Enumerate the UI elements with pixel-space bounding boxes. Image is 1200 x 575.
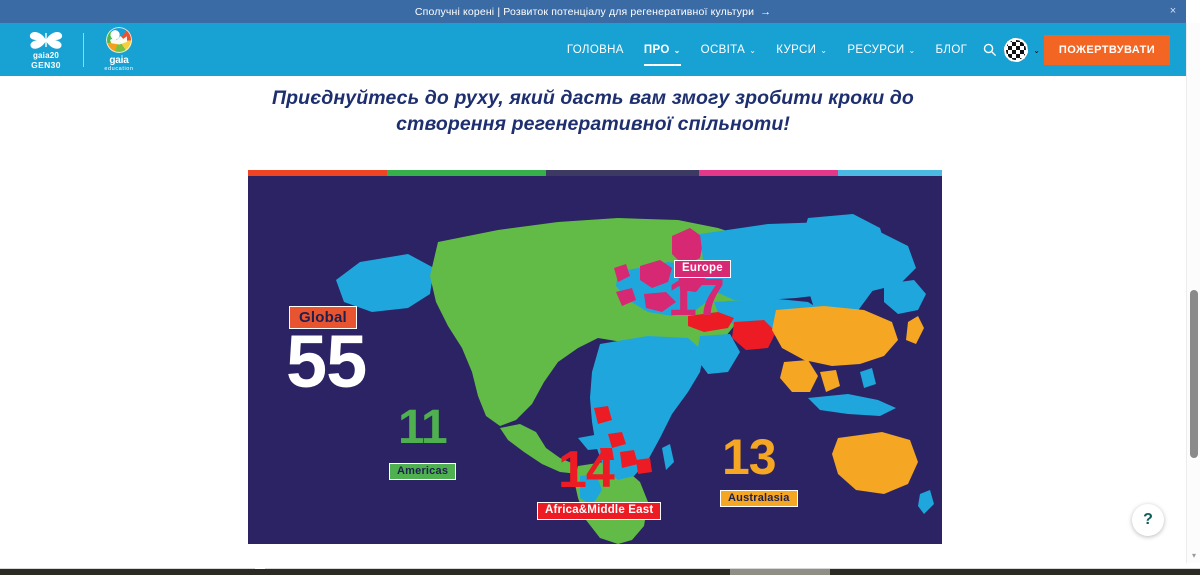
landmass-far-east <box>884 280 926 314</box>
region-value-australasia: 13 <box>722 436 776 479</box>
logo-gaia-line2: education <box>104 66 133 72</box>
region-label-australasia: Australasia <box>720 490 798 507</box>
world-map-infographic: Global 55 Europe 17 11 Americas 14 Afric… <box>248 170 942 544</box>
donate-button[interactable]: ПОЖЕРТВУВАТИ <box>1044 35 1170 65</box>
taskbar-highlight <box>730 569 830 575</box>
search-icon[interactable] <box>983 43 996 56</box>
region-value-africa-middle-east: 14 <box>558 448 614 492</box>
nav-label: БЛОГ <box>936 44 968 56</box>
region-label-americas: Americas <box>389 463 456 480</box>
butterfly-icon <box>29 30 63 50</box>
chevron-down-icon[interactable]: ▾ <box>1190 552 1198 560</box>
arrow-right-icon: → <box>760 6 771 18</box>
chevron-down-icon: ⌄ <box>749 46 756 55</box>
logo-gen30[interactable]: gaia20 GEN30 <box>20 30 72 70</box>
region-value-americas: 11 <box>398 408 447 449</box>
logo-gen30-line2: GEN30 <box>31 60 61 70</box>
region-value-europe: 17 <box>668 276 724 320</box>
landmass-philippines <box>860 368 876 388</box>
nav-item-courses[interactable]: КУРСИ ⌄ <box>766 38 837 62</box>
landmass-new-zealand <box>918 490 934 514</box>
landmass-russia <box>700 222 916 300</box>
logo-gen30-line1: gaia20 <box>33 51 59 60</box>
logo-gaia-line1: gaia <box>109 55 128 66</box>
help-button[interactable]: ? <box>1132 504 1164 536</box>
landmass-madagascar <box>662 444 674 470</box>
announcement-text: Сполучні корені | Розвиток потенціалу дл… <box>415 6 754 18</box>
nav-label: ОСВІТА <box>701 44 746 56</box>
nav-item-resources[interactable]: РЕСУРСИ ⌄ <box>837 38 925 62</box>
chevron-down-icon: ⌄ <box>820 46 827 55</box>
nav-label: ПРО <box>644 44 670 56</box>
chevron-down-icon: ⌄ <box>908 46 915 55</box>
language-globe-icon <box>1004 38 1028 62</box>
nav-item-blog[interactable]: БЛОГ <box>926 38 978 62</box>
scrollbar-thumb[interactable] <box>1190 290 1198 458</box>
close-icon[interactable]: × <box>1166 5 1180 19</box>
nav-item-about[interactable]: ПРО ⌄ <box>634 38 691 62</box>
language-selector[interactable]: ⌄ <box>1004 38 1040 62</box>
page-root: Сполучні корені | Розвиток потенціалу дл… <box>0 0 1200 575</box>
world-map: Global 55 Europe 17 11 Americas 14 Afric… <box>248 176 942 544</box>
nav-item-education[interactable]: ОСВІТА ⌄ <box>691 38 767 62</box>
region-value-global: 55 <box>286 331 366 394</box>
page-content: Приєднуйтесь до руху, який дасть вам змо… <box>0 76 1186 563</box>
chevron-down-icon: ⌄ <box>674 46 681 55</box>
region-label-africa-middle-east: Africa&Middle East <box>537 502 661 520</box>
logo-group[interactable]: gaia20 GEN30 gaia education <box>20 27 143 72</box>
landmass-se-asia <box>820 370 840 392</box>
page-title: Приєднуйтесь до руху, який дасть вам змо… <box>233 86 953 138</box>
site-header: gaia20 GEN30 gaia education ГОЛОВНА ПРО … <box>0 23 1186 76</box>
nav-item-home[interactable]: ГОЛОВНА <box>557 38 634 62</box>
nav-label: ГОЛОВНА <box>567 44 624 56</box>
os-taskbar <box>0 563 1200 575</box>
logo-gaia-education[interactable]: gaia education <box>95 27 143 72</box>
nav-label: РЕСУРСИ <box>847 44 904 56</box>
announcement-banner[interactable]: Сполучні корені | Розвиток потенціалу дл… <box>0 0 1186 23</box>
nav-label: КУРСИ <box>776 44 816 56</box>
logo-divider <box>83 33 84 67</box>
vertical-scrollbar[interactable]: ▾ <box>1186 23 1200 563</box>
landmass-indonesia <box>808 394 896 416</box>
landmass-australia <box>832 432 918 494</box>
chevron-down-icon: ⌄ <box>1033 46 1040 55</box>
globe-circle-icon <box>106 27 132 53</box>
main-navigation: ГОЛОВНА ПРО ⌄ ОСВІТА ⌄ КУРСИ ⌄ РЕСУРСИ ⌄… <box>557 35 1186 65</box>
landmass-japan <box>906 316 924 344</box>
taskbar-strip <box>0 569 1200 575</box>
